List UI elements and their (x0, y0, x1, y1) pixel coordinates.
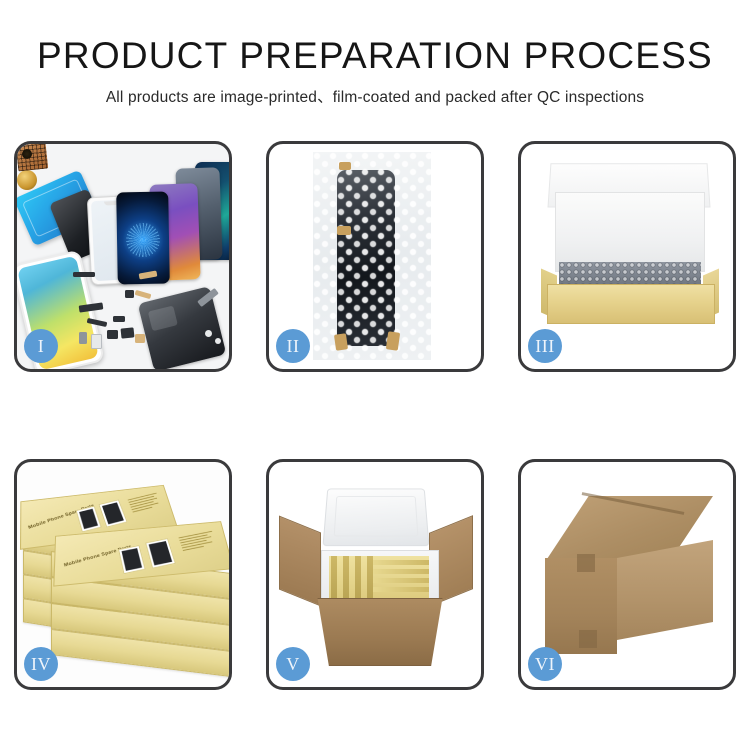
small-part (73, 272, 95, 277)
step-badge-3: III (528, 329, 562, 363)
camera-lens-ring-part (17, 170, 37, 190)
small-part (125, 290, 134, 298)
carton-flap-left (279, 516, 321, 607)
box-window (98, 499, 127, 527)
small-part (79, 332, 87, 344)
tape-piece (339, 162, 351, 170)
box-window (145, 538, 176, 569)
carton-tape-patch (577, 554, 595, 572)
product-preparation-infographic: PRODUCT PREPARATION PROCESS All products… (0, 0, 750, 750)
tape-piece (386, 331, 400, 350)
page-subtitle: All products are image-printed、film-coat… (0, 85, 750, 107)
yellow-boxes-inside (329, 556, 429, 600)
page-title: PRODUCT PREPARATION PROCESS (0, 34, 750, 78)
carton-front-panel (309, 598, 451, 666)
process-step-4: Mobile Phone Spare Parts Mobile Phone Sp… (14, 459, 232, 690)
box-window (76, 506, 102, 533)
small-part (135, 334, 145, 343)
bubble-texture (313, 152, 431, 360)
step-badge-6: VI (528, 647, 562, 681)
process-step-5: V (266, 459, 484, 690)
logic-board-part (17, 144, 48, 171)
box-window (118, 545, 146, 574)
phone-back-housing (138, 286, 227, 369)
tape-piece (334, 333, 348, 351)
step-badge-2: II (276, 329, 310, 363)
step-badge-1: I (24, 329, 58, 363)
step-badge-4: IV (24, 647, 58, 681)
box-front-yellow (547, 284, 715, 324)
small-part (107, 330, 118, 339)
small-part (113, 316, 125, 322)
process-steps-grid: I II (14, 141, 736, 681)
process-step-2: II (266, 141, 484, 372)
process-step-6: VI (518, 459, 736, 690)
box-print-text-lines (128, 493, 164, 514)
small-part (135, 290, 152, 299)
process-step-3: III (518, 141, 736, 372)
step-badge-5: V (276, 647, 310, 681)
foam-box-lid (322, 489, 429, 547)
process-step-1: I (14, 141, 232, 372)
small-part (121, 327, 135, 338)
small-part (215, 338, 221, 344)
carton-tape-patch (579, 630, 597, 648)
phone-blue-burst-screen (116, 192, 170, 285)
box-print-text-lines (179, 531, 218, 553)
small-part (91, 334, 102, 349)
tape-piece (337, 226, 351, 235)
box-lid-white (555, 192, 705, 272)
bubble-wrap-bag (313, 152, 431, 360)
small-part (205, 330, 212, 337)
header: PRODUCT PREPARATION PROCESS All products… (0, 34, 750, 107)
